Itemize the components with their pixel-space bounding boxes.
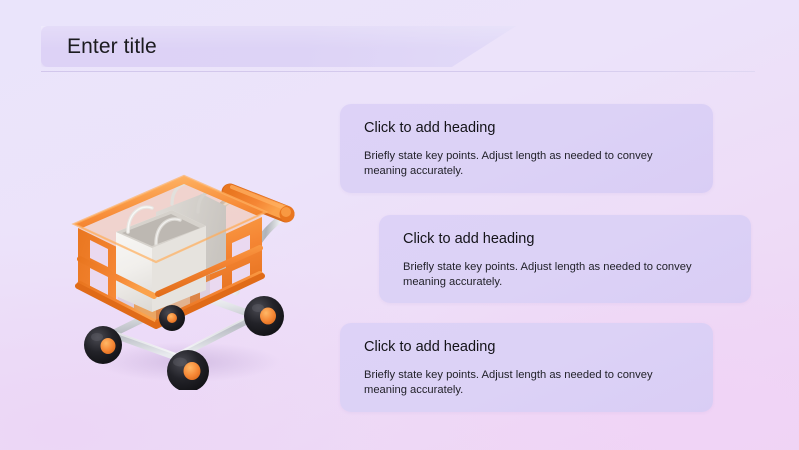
content-card-3[interactable]: Click to add heading Briefly state key p… (340, 323, 713, 412)
card-heading[interactable]: Click to add heading (364, 119, 495, 138)
content-card-2[interactable]: Click to add heading Briefly state key p… (379, 215, 751, 303)
card-body-text[interactable]: Briefly state key points. Adjust length … (403, 260, 733, 289)
card-heading[interactable]: Click to add heading (364, 338, 495, 357)
slide-canvas: Enter title (0, 0, 799, 450)
card-heading[interactable]: Click to add heading (403, 230, 534, 249)
content-card-1[interactable]: Click to add heading Briefly state key p… (340, 104, 713, 193)
shopping-cart-illustration (60, 140, 310, 390)
card-body-text[interactable]: Briefly state key points. Adjust length … (364, 368, 686, 397)
header-divider (41, 71, 755, 72)
page-title[interactable]: Enter title (67, 33, 157, 61)
card-body-text[interactable]: Briefly state key points. Adjust length … (364, 149, 686, 178)
